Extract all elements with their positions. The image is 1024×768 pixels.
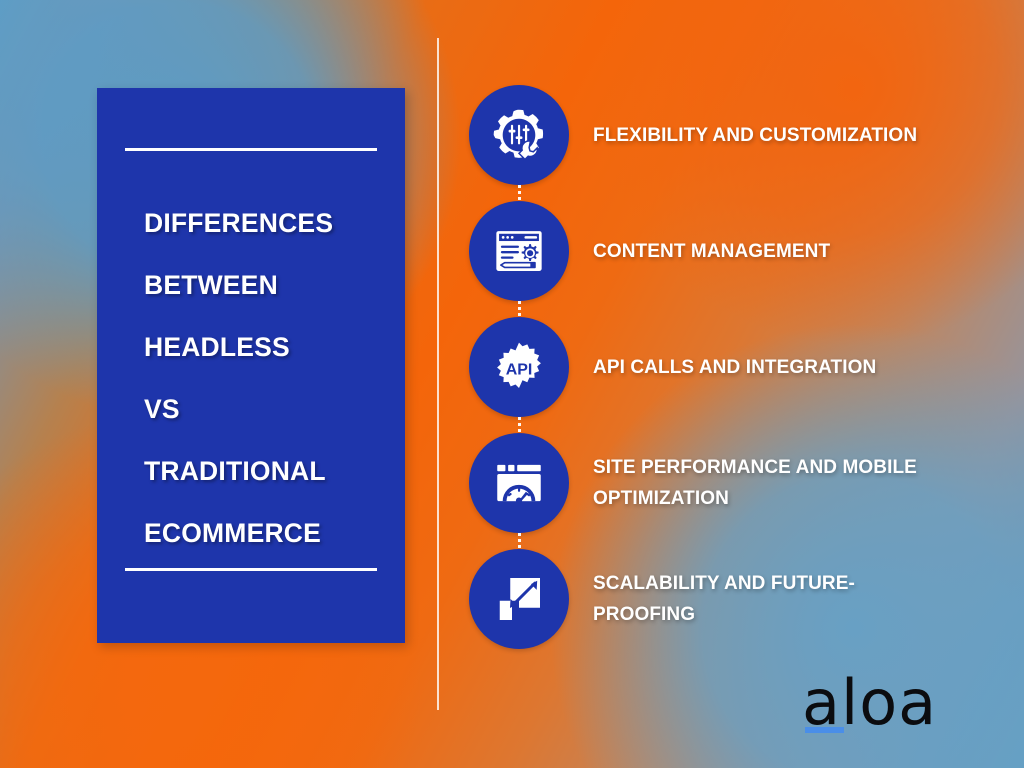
title-card: DIFFERENCES BETWEEN HEADLESS VS TRADITIO… — [97, 88, 405, 643]
browser-speedometer-icon — [490, 454, 548, 512]
browser-gear-pencil-icon — [490, 222, 548, 280]
connector-dots — [518, 301, 521, 317]
connector-dots — [518, 533, 521, 549]
page-title: DIFFERENCES BETWEEN HEADLESS VS TRADITIO… — [144, 192, 389, 564]
feature-list: FLEXIBILITY AND CUSTOMIZATION — [469, 84, 989, 650]
title-line-4: VS — [144, 378, 389, 440]
feature-icon-badge: API — [469, 317, 569, 417]
api-label: API — [506, 361, 533, 378]
feature-icon-badge — [469, 433, 569, 533]
feature-label: CONTENT MANAGEMENT — [593, 236, 830, 267]
feature-icon-badge — [469, 549, 569, 649]
feature-icon-badge — [469, 85, 569, 185]
vertical-divider — [437, 38, 439, 710]
title-line-1: DIFFERENCES — [144, 192, 389, 254]
connector-dots — [518, 185, 521, 201]
title-line-5: TRADITIONAL — [144, 440, 389, 502]
aloa-logo[interactable]: aloa — [802, 672, 942, 744]
feature-item-performance[interactable]: SITE PERFORMANCE AND MOBILE OPTIMIZATION — [469, 432, 989, 534]
title-rule-bottom — [125, 568, 377, 571]
title-line-2: BETWEEN — [144, 254, 389, 316]
feature-label: FLEXIBILITY AND CUSTOMIZATION — [593, 120, 917, 151]
feature-label: SCALABILITY AND FUTURE-PROOFING — [593, 568, 953, 630]
feature-item-scalability[interactable]: SCALABILITY AND FUTURE-PROOFING — [469, 548, 989, 650]
feature-item-api[interactable]: API API CALLS AND INTEGRATION — [469, 316, 989, 418]
api-cog-icon: API — [488, 336, 550, 398]
feature-label: API CALLS AND INTEGRATION — [593, 352, 876, 383]
gear-settings-wrench-icon — [489, 105, 549, 165]
title-rule-top — [125, 148, 377, 151]
logo-wordmark: aloa — [802, 672, 942, 734]
resize-expand-arrow-icon — [491, 571, 547, 627]
feature-item-content-management[interactable]: CONTENT MANAGEMENT — [469, 200, 989, 302]
infographic-canvas: DIFFERENCES BETWEEN HEADLESS VS TRADITIO… — [0, 0, 1024, 768]
feature-label: SITE PERFORMANCE AND MOBILE OPTIMIZATION — [593, 452, 953, 514]
feature-item-flexibility[interactable]: FLEXIBILITY AND CUSTOMIZATION — [469, 84, 989, 186]
title-line-6: ECOMMERCE — [144, 502, 389, 564]
feature-icon-badge — [469, 201, 569, 301]
logo-underline-accent — [805, 727, 844, 733]
connector-dots — [518, 417, 521, 433]
title-line-3: HEADLESS — [144, 316, 389, 378]
